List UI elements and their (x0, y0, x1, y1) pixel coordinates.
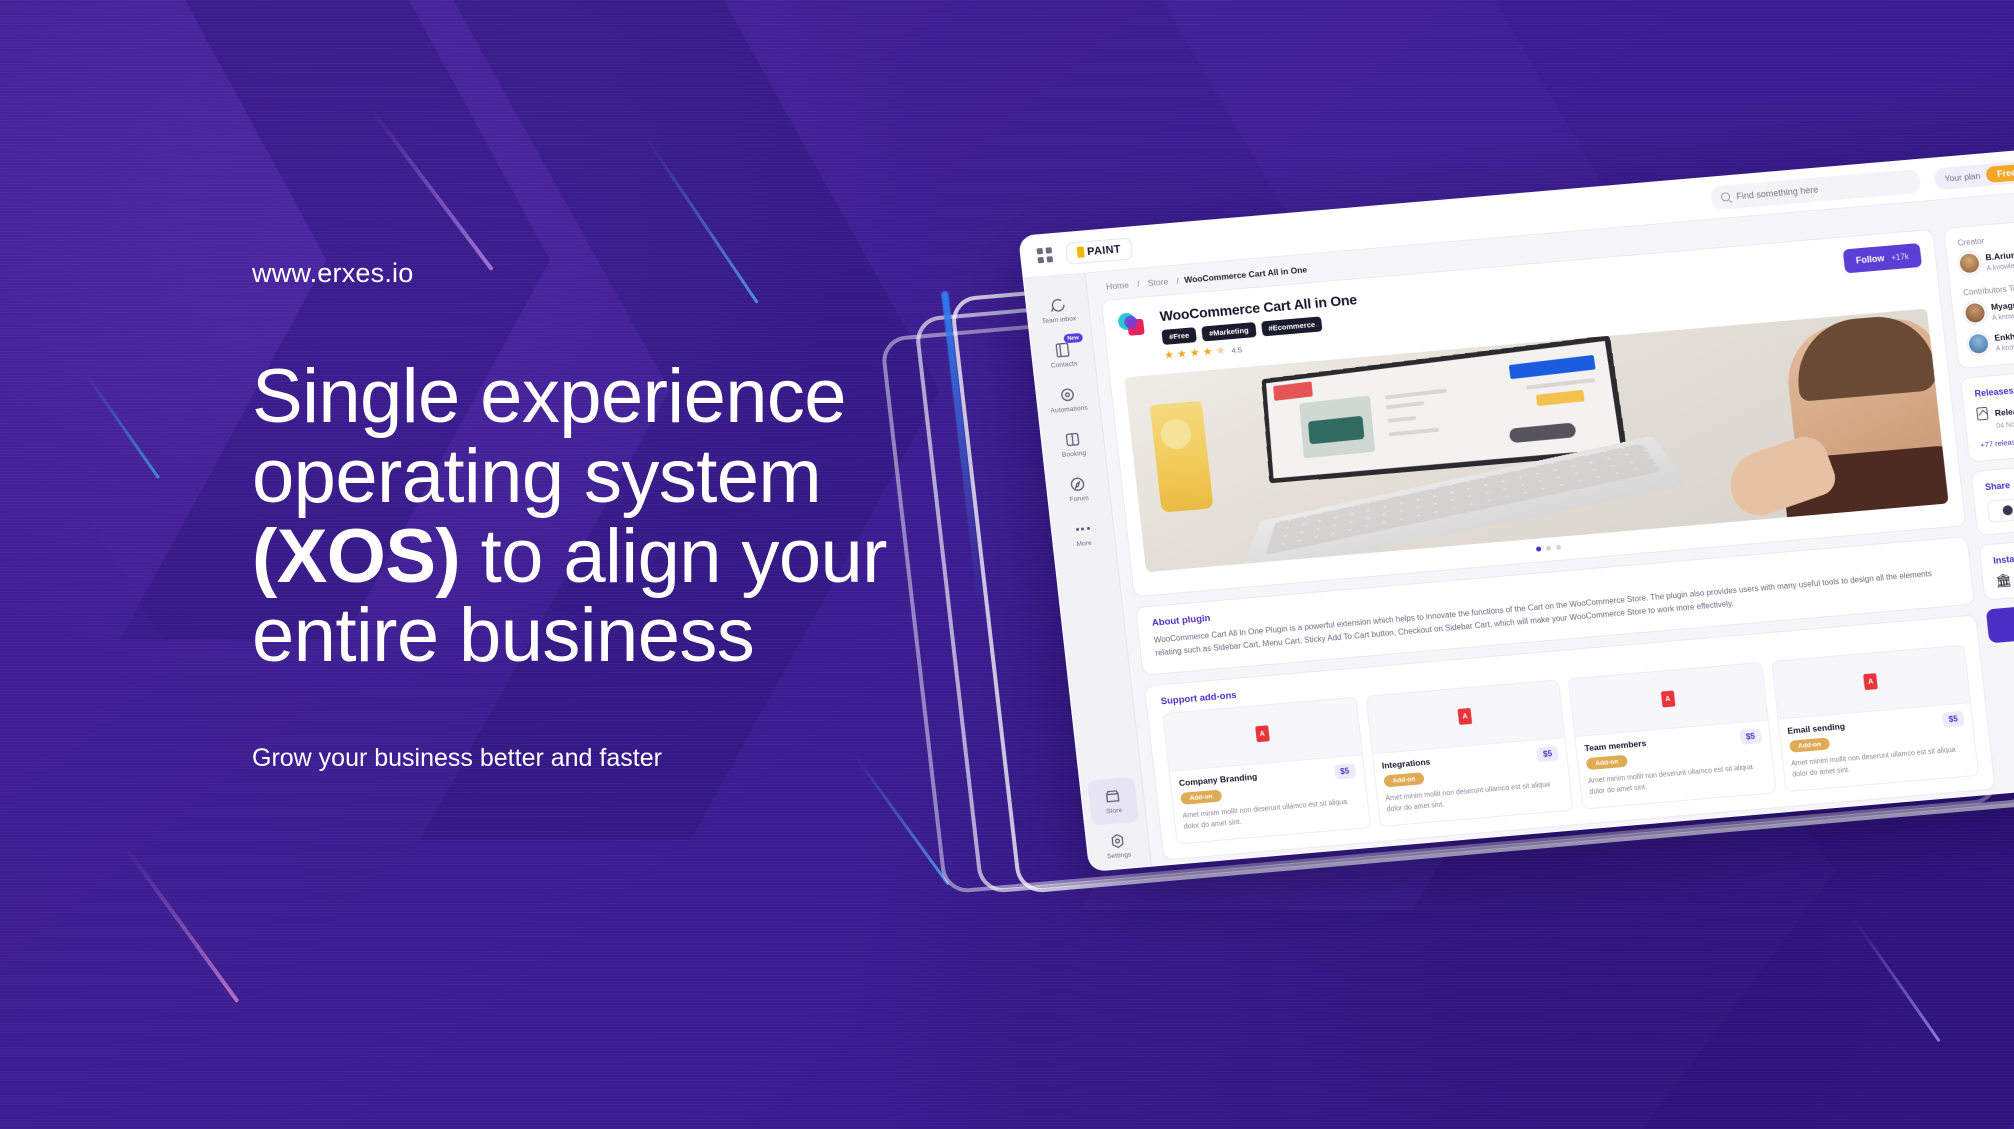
sidebar-item-contacts[interactable]: New Contacts (1030, 330, 1096, 380)
avatar (1968, 333, 1989, 354)
avatar (1959, 253, 1980, 274)
hero-subtitle: Grow your business better and faster (252, 744, 1012, 773)
sidebar-item-team-inbox[interactable]: Team inbox (1025, 285, 1091, 335)
breadcrumb-home[interactable]: Home (1106, 280, 1130, 292)
follow-count: +17k (1891, 251, 1910, 261)
addon-price: $5 (1942, 711, 1965, 728)
follow-button[interactable]: Follow +17k (1843, 243, 1922, 273)
star-half-icon: ★ (1215, 346, 1226, 358)
file-icon (1255, 726, 1270, 743)
release-name: Release 0.23.0 (1994, 403, 2014, 418)
org-logo-icon: 🏛 (1995, 574, 2013, 588)
contacts-book-icon (1053, 341, 1072, 359)
addon-name: Email sending (1787, 721, 1846, 736)
sidebar-item-settings[interactable]: Settings (1085, 821, 1151, 871)
main-column: WooCommerce Cart All in One #Free #Marke… (1101, 229, 1995, 853)
addon-card[interactable]: Company Branding Add-on $5 Amet minim mo… (1162, 697, 1371, 844)
breadcrumb-sep: / (1176, 275, 1179, 285)
brand-logo[interactable]: PAINT (1065, 237, 1133, 264)
headline-line-3: to align your (460, 514, 887, 599)
carousel-dot[interactable] (1546, 545, 1552, 550)
sidebar-item-automations[interactable]: Automations (1035, 375, 1101, 425)
follow-label: Follow (1855, 253, 1885, 265)
file-icon (1661, 691, 1676, 708)
avatar (1964, 303, 1985, 324)
sidebar-item-booking[interactable]: Booking (1040, 420, 1106, 470)
github-icon (2002, 505, 2013, 516)
sidebar-label: Store (1106, 807, 1123, 815)
tag-icon (1976, 407, 1988, 421)
star-icon: ★ (1202, 347, 1213, 359)
addon-chip: Add-on (1586, 755, 1628, 770)
sidebar-badge: New (1063, 333, 1083, 344)
headline-line-1: Single experience (252, 354, 846, 439)
forum-compass-icon (1068, 475, 1087, 493)
sidebar-label: Settings (1107, 851, 1132, 860)
grid-apps-icon[interactable] (1037, 247, 1054, 263)
tag-ecommerce[interactable]: #Ecommerce (1261, 316, 1323, 336)
hero-copy: www.erxes.io Single experience operating… (252, 258, 1012, 773)
plugin-logo-icon (1117, 309, 1150, 341)
breadcrumb-current: WooCommerce Cart All in One (1184, 264, 1308, 284)
addon-name: Company Branding (1178, 771, 1257, 788)
sidebar-label: Forum (1069, 495, 1089, 504)
releases-heading: Releases 78 (1974, 372, 2014, 400)
addon-chip: Add-on (1789, 738, 1831, 753)
tag-free[interactable]: #Free (1161, 327, 1197, 345)
breadcrumb-sep: / (1137, 279, 1140, 289)
sidebar-item-more[interactable]: More (1050, 509, 1116, 559)
file-icon (1458, 708, 1473, 725)
addon-price: $5 (1333, 763, 1356, 780)
booking-layers-icon (1063, 430, 1082, 448)
orgs-heading: Installed organizations (1993, 539, 2014, 567)
sidebar-label: Team inbox (1042, 315, 1077, 325)
share-heading: Share (1985, 465, 2014, 493)
headline-xos: (XOS) (252, 514, 460, 599)
headline-line-4: entire business (252, 593, 754, 678)
more-dots-icon (1075, 520, 1091, 538)
automation-gear-icon (1058, 386, 1077, 404)
sidebar-label: More (1076, 540, 1092, 548)
search-icon (1721, 192, 1731, 202)
breadcrumb-store[interactable]: Store (1147, 276, 1168, 288)
sidebar-item-forum[interactable]: Forum (1045, 464, 1111, 514)
plan-label: Your plan (1944, 170, 1981, 183)
star-icon: ★ (1164, 350, 1175, 362)
sidebar-item-store[interactable]: Store (1087, 777, 1139, 826)
share-github-button[interactable]: Github (1987, 496, 2014, 523)
tag-marketing[interactable]: #Marketing (1201, 322, 1256, 341)
star-icon: ★ (1177, 349, 1188, 361)
addon-chip: Add-on (1383, 773, 1425, 788)
brand-mark-icon (1077, 246, 1085, 258)
plan-badge[interactable]: Your plan Free (1933, 160, 2014, 190)
headline-line-2: operating system (252, 434, 821, 519)
settings-gear-icon (1108, 832, 1127, 850)
addon-chip: Add-on (1180, 790, 1222, 805)
addon-price: $5 (1536, 746, 1559, 763)
sidebar-label: Contacts (1051, 360, 1078, 369)
installed-organizations-card: Installed organizations 🏛 ☸ 🍎 🚶 ☸ 🍎 🚶 (1978, 526, 2014, 601)
creator-card: Creator B.Ariunbold A knowledge worker b… (1943, 208, 2014, 369)
carousel-dot[interactable] (1556, 545, 1562, 550)
app-content: Home / Store / WooCommerce Cart All in O… (1086, 179, 2014, 865)
addon-card[interactable]: Team members Add-on $5 Amet minim mollit… (1568, 662, 1777, 809)
addon-card[interactable]: Email sending Add-on $5 Amet minim molli… (1771, 644, 1980, 791)
app-window: PAINT Your plan Free Ts.Myagmarbor| Onli (1018, 136, 2014, 872)
app-mockup-stage: PAINT Your plan Free Ts.Myagmarbor| Onli (1040, 230, 2014, 910)
sidebar-label: Automations (1050, 405, 1088, 415)
addon-price: $5 (1739, 728, 1762, 745)
brand-name: PAINT (1087, 243, 1122, 258)
contributor-name: Enkhtuvshin (1994, 321, 2014, 342)
store-icon (1103, 787, 1122, 805)
file-icon (1863, 674, 1878, 691)
share-card: Share Github Facebook (1970, 452, 2014, 536)
addon-name: Team members (1584, 738, 1647, 753)
site-url: www.erxes.io (252, 258, 1012, 289)
addon-card[interactable]: Integrations Add-on $5 Amet minim mollit… (1365, 679, 1574, 826)
star-icon: ★ (1189, 348, 1200, 360)
addon-name: Integrations (1381, 756, 1431, 770)
carousel-dot[interactable] (1536, 546, 1542, 551)
sidebar-label: Booking (1062, 450, 1087, 459)
creator-label: Creator (1957, 221, 2014, 248)
plan-value: Free (1985, 163, 2014, 182)
releases-card: Releases 78 Release 0.23.0 Latest 04 Nov… (1960, 359, 2014, 463)
rating-value: 4.5 (1231, 345, 1242, 355)
search-input[interactable] (1736, 176, 1912, 201)
chat-bubble-icon (1048, 296, 1067, 314)
